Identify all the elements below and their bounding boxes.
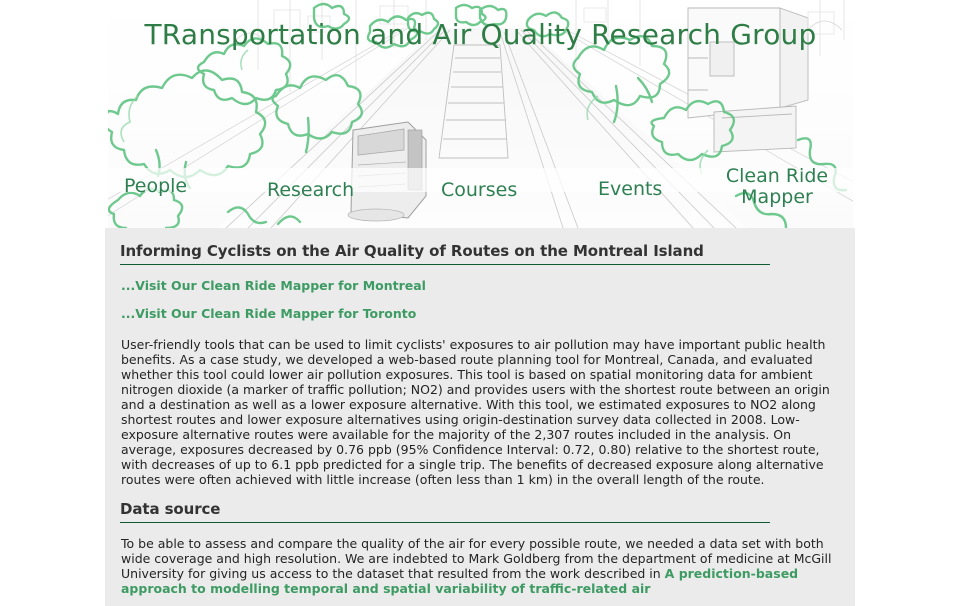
nav-item-events[interactable]: Events	[598, 179, 662, 199]
nav-item-clean-ride-mapper[interactable]: Clean Ride Mapper	[717, 166, 837, 208]
abstract-paragraph: User-friendly tools that can be used to …	[121, 337, 839, 487]
nav-item-courses[interactable]: Courses	[441, 180, 517, 200]
nav-item-clean-ride-mapper-line2: Mapper	[717, 187, 837, 208]
section-spacer	[120, 487, 840, 500]
nav-item-clean-ride-mapper-line1: Clean Ride	[717, 166, 837, 187]
link-clean-ride-mapper-montreal[interactable]: ...Visit Our Clean Ride Mapper for Montr…	[121, 278, 840, 293]
nav-item-research[interactable]: Research	[267, 180, 354, 200]
content-panel: Informing Cyclists on the Air Quality of…	[105, 228, 855, 606]
data-source-heading: Data source	[120, 500, 770, 523]
nav-item-people[interactable]: People	[124, 176, 187, 196]
site-banner: TRansportation and Air Quality Research …	[108, 0, 853, 228]
site-title: TRansportation and Air Quality Research …	[108, 18, 853, 51]
link-clean-ride-mapper-toronto[interactable]: ...Visit Our Clean Ride Mapper for Toron…	[121, 306, 840, 321]
data-source-paragraph: To be able to assess and compare the qua…	[121, 536, 839, 596]
page-title: Informing Cyclists on the Air Quality of…	[120, 242, 770, 265]
